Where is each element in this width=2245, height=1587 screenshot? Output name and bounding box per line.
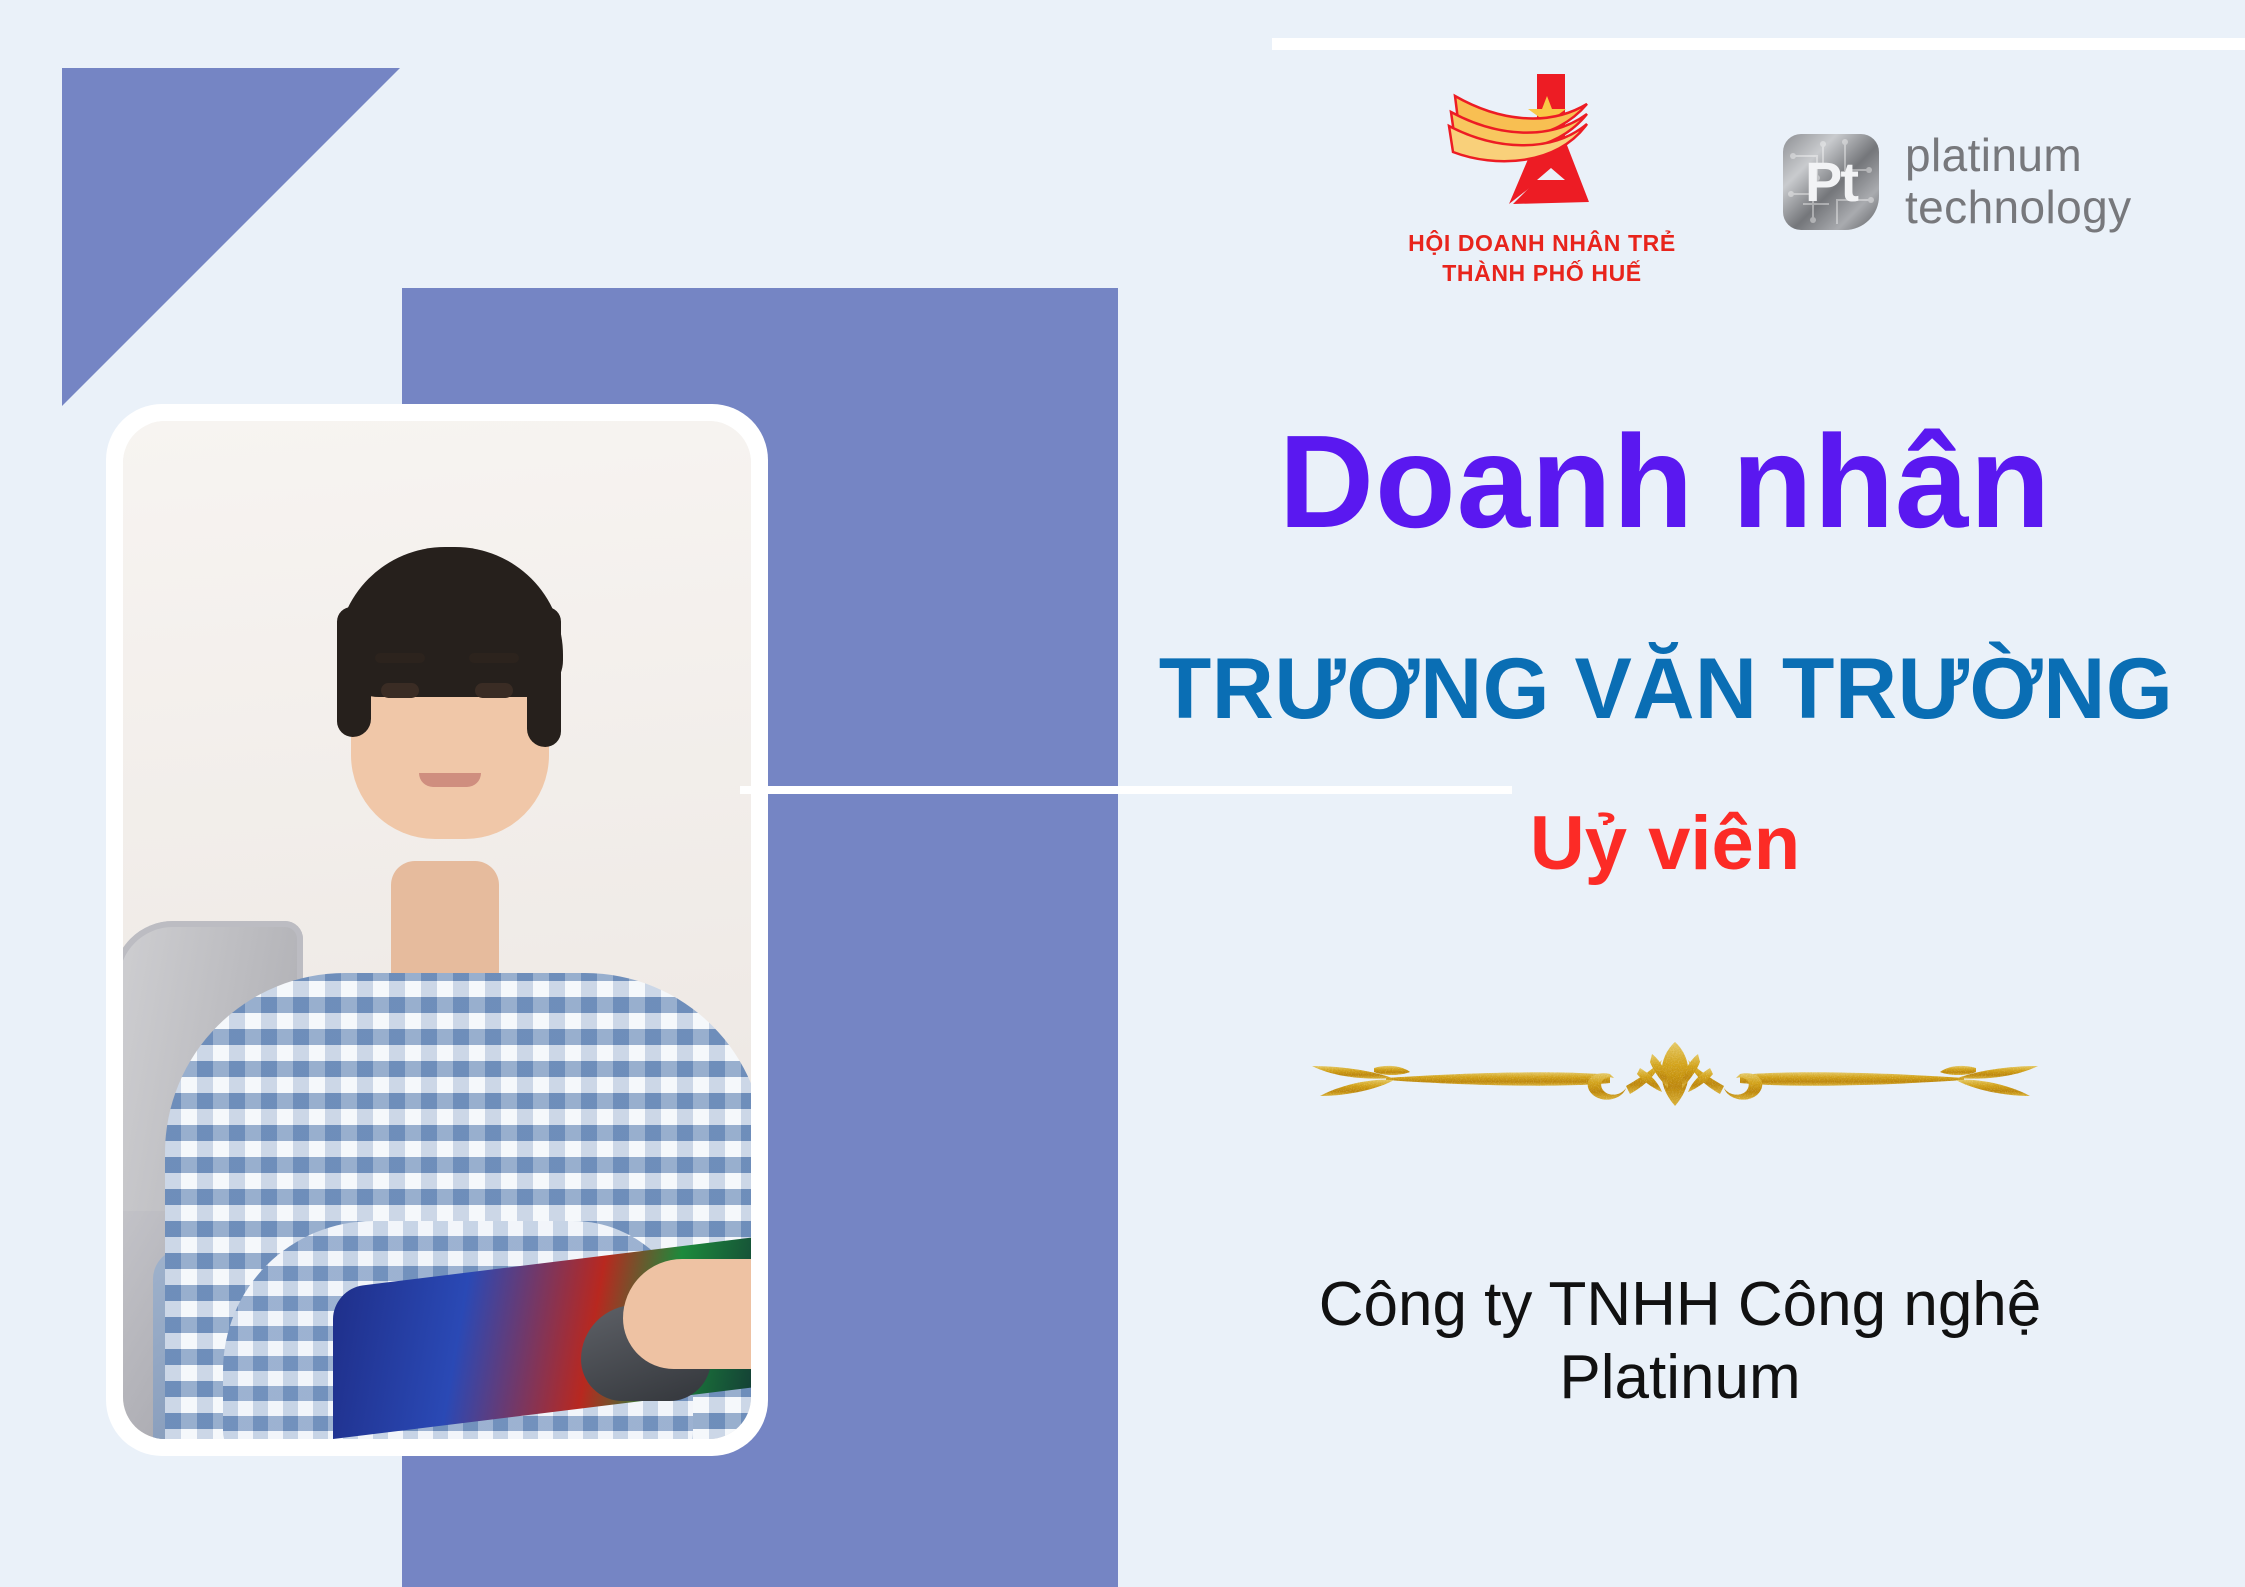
platinum-logo: Pt platinum technology (1783, 130, 2132, 233)
company-name-line1: Công ty TNHH Công nghệ (1230, 1268, 2130, 1341)
page-title: Doanh nhân (1140, 416, 2190, 548)
platinum-wordmark: platinum technology (1905, 130, 2132, 233)
portrait-photo (123, 421, 751, 1439)
gold-flourish-divider-icon (1290, 1028, 2060, 1124)
association-logo: HỘI DOANH NHÂN TRẺ THÀNH PHỐ HUẾ (1392, 70, 1692, 289)
hair-left-side (337, 607, 371, 737)
association-name-line2: THÀNH PHỐ HUẾ (1392, 258, 1692, 288)
mouth (419, 773, 481, 787)
purple-triangle-decoration (62, 68, 400, 406)
hand (623, 1259, 751, 1369)
eyebrow-left (375, 653, 425, 663)
company-name: Công ty TNHH Công nghệ Platinum (1230, 1268, 2130, 1414)
association-name-line1: HỘI DOANH NHÂN TRẺ (1392, 228, 1692, 258)
platinum-badge-letters: Pt (1783, 134, 1879, 230)
hair-right-side (527, 607, 561, 747)
company-name-line2: Platinum (1230, 1341, 2130, 1414)
person-role: Uỷ viên (1140, 806, 2190, 882)
top-white-bar-decoration (1272, 38, 2245, 50)
eyebrow-right (469, 653, 519, 663)
person-name: TRƯƠNG VĂN TRƯỜNG (1130, 646, 2202, 732)
portrait-frame (106, 404, 768, 1456)
platinum-word-technology: technology (1905, 182, 2132, 234)
eye-left (381, 683, 419, 698)
business-card-canvas: HỘI DOANH NHÂN TRẺ THÀNH PHỐ HUẾ Pt (0, 0, 2245, 1587)
platinum-word-platinum: platinum (1905, 130, 2132, 182)
white-horizontal-rule (740, 786, 1512, 794)
star-with-swoosh-icon (1437, 70, 1647, 220)
platinum-pt-badge-icon: Pt (1783, 134, 1879, 230)
eye-right (475, 683, 513, 698)
